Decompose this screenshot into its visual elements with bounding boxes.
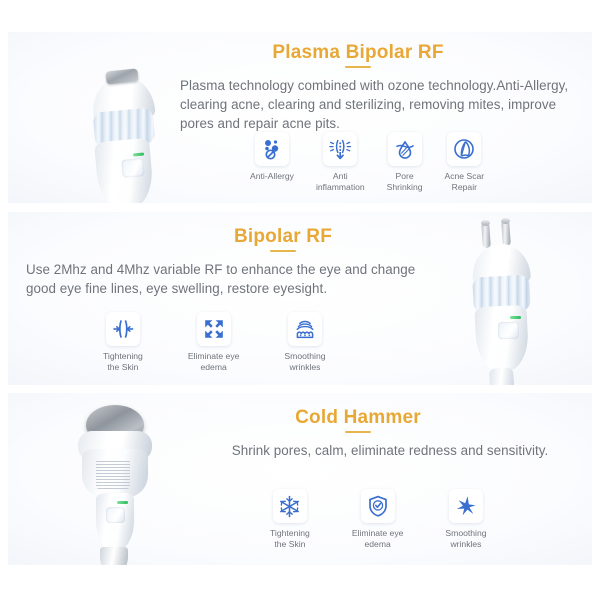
feature-list: Anti-Allergy — [250, 132, 484, 192]
title-underline — [345, 66, 371, 68]
panel-plasma-bipolar-rf: Plasma Bipolar RF Plasma technology comb… — [8, 32, 592, 203]
feature-label: Pore Shrinking — [387, 171, 423, 192]
device-logo-plate — [106, 507, 125, 523]
feature-label: Eliminate eye edema — [352, 528, 404, 549]
skin-tightening-icon — [106, 312, 140, 346]
panel-description: Plasma technology combined with ozone te… — [180, 76, 592, 133]
anti-allergy-icon — [255, 132, 289, 166]
feature-item[interactable]: Eliminate eye edema — [188, 312, 240, 372]
bipolar-rf-handpiece-image — [454, 218, 550, 385]
smoothing-wrinkles-icon — [288, 312, 322, 346]
feature-list: Tightening the Skin Eliminate eye edema — [103, 312, 326, 372]
eliminate-edema-arrows-icon — [197, 312, 231, 346]
feature-item[interactable]: Smoothing wrinkles — [284, 312, 325, 372]
feature-label: Anti-Allergy — [250, 171, 294, 182]
feature-item[interactable]: Pore Shrinking — [387, 132, 423, 192]
device-probe-cap — [501, 218, 510, 224]
feature-item[interactable]: Smoothing wrinkles — [445, 489, 486, 549]
acne-scar-repair-icon — [447, 132, 481, 166]
burst-star-icon — [449, 489, 483, 523]
feature-item[interactable]: Tightening the Skin — [103, 312, 143, 372]
product-infographic: Plasma Bipolar RF Plasma technology comb… — [0, 0, 600, 600]
feature-list: Tightening the Skin Eliminate eye edema — [270, 489, 487, 549]
panel-description: Use 2Mhz and 4Mhz variable RF to enhance… — [26, 260, 446, 298]
feature-label: Anti inflammation — [316, 171, 365, 192]
device-body — [474, 305, 529, 374]
title-underline — [270, 250, 296, 252]
feature-label: Smoothing wrinkles — [445, 528, 486, 549]
feature-label: Tightening the Skin — [103, 351, 143, 372]
title-underline — [345, 431, 371, 433]
snowflake-icon — [273, 489, 307, 523]
feature-item[interactable]: Anti inflammation — [316, 132, 365, 192]
device-logo-plate — [121, 158, 144, 178]
device-tip — [100, 547, 128, 565]
feature-item[interactable]: Acne Scar Repair — [445, 132, 485, 192]
plasma-bipolar-rf-handpiece-image — [70, 60, 180, 203]
device-logo-plate — [498, 322, 519, 339]
panel-cold-hammer: Cold Hammer Shrink pores, calm, eliminat… — [8, 393, 592, 565]
panel-title: Cold Hammer — [193, 407, 523, 429]
device-led-indicator — [117, 501, 128, 504]
device-led-indicator — [510, 316, 521, 319]
panel-description: Shrink pores, calm, eliminate redness an… — [190, 441, 590, 460]
feature-label: Acne Scar Repair — [445, 171, 485, 192]
panel-bipolar-rf: Bipolar RF Use 2Mhz and 4Mhz variable RF… — [8, 212, 592, 385]
cold-hammer-handpiece-image — [70, 397, 188, 565]
feature-label: Tightening the Skin — [270, 528, 310, 549]
anti-inflammation-icon — [323, 132, 357, 166]
pore-shrinking-icon — [388, 132, 422, 166]
panel-title: Plasma Bipolar RF — [188, 42, 528, 64]
feature-label: Smoothing wrinkles — [284, 351, 325, 372]
device-stem — [489, 367, 515, 385]
panel-title: Bipolar RF — [118, 226, 448, 248]
feature-item[interactable]: Anti-Allergy — [250, 132, 294, 192]
feature-label: Eliminate eye edema — [188, 351, 240, 372]
shield-check-icon — [361, 489, 395, 523]
device-probe-cap — [481, 220, 490, 226]
device-vents — [96, 459, 130, 489]
feature-item[interactable]: Eliminate eye edema — [352, 489, 404, 549]
feature-item[interactable]: Tightening the Skin — [270, 489, 310, 549]
